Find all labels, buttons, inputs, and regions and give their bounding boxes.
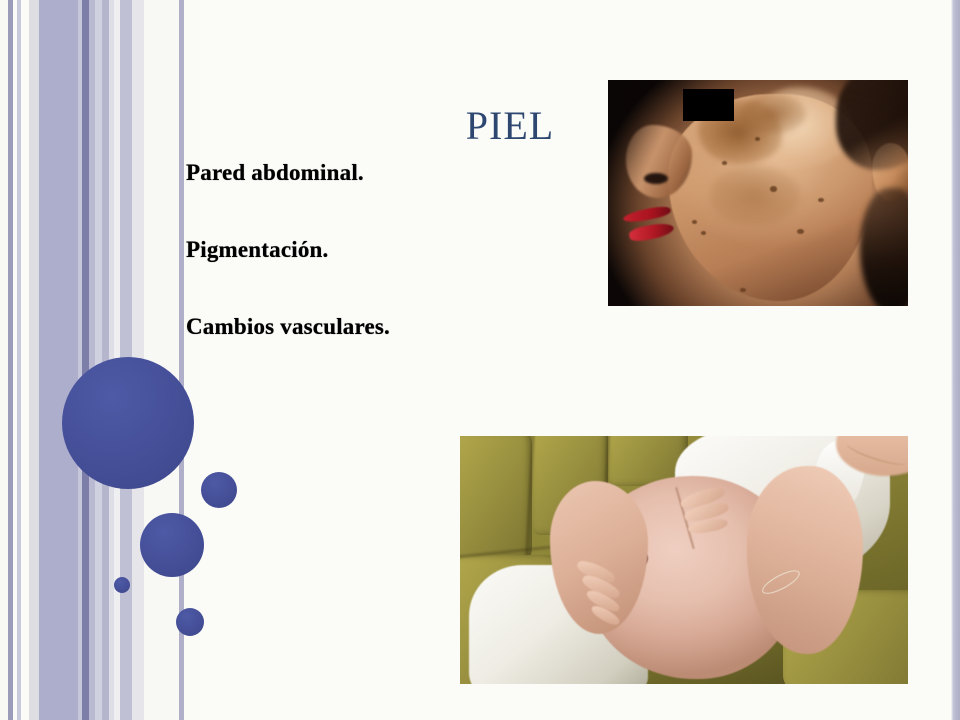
skin-spot-5 — [701, 231, 706, 235]
right-edge-stripe — [951, 0, 960, 720]
skin-spot-8 — [755, 137, 760, 141]
melasma-face-photo — [608, 80, 908, 306]
circle-tiny — [114, 577, 130, 593]
couch-cushion-1 — [460, 436, 532, 565]
skin-spot-2 — [818, 198, 824, 203]
eye-censor-bar — [683, 89, 734, 121]
face-nostril — [644, 173, 668, 184]
bullet-item-2: Pigmentación. — [186, 237, 606, 263]
bullet-item-3: Cambios vasculares. — [186, 314, 606, 340]
pregnancy-belly-photo — [460, 436, 908, 684]
melasma-patch-temple — [740, 94, 806, 135]
skin-spot-1 — [770, 186, 777, 191]
skin-spot-7 — [722, 161, 727, 165]
circle-medium — [140, 513, 204, 577]
bullet-list: Pared abdominal. Pigmentación. Cambios v… — [186, 160, 606, 391]
face-hair-side — [860, 188, 908, 306]
bullet-item-1: Pared abdominal. — [186, 160, 606, 186]
circle-large — [62, 357, 194, 489]
circle-xsmall — [176, 608, 204, 636]
skin-spot-3 — [797, 229, 804, 234]
melasma-patch-lower — [710, 166, 800, 225]
presentation-slide: PIEL Pared abdominal. Pigmentación. Camb… — [0, 0, 960, 720]
circle-small — [201, 472, 237, 508]
